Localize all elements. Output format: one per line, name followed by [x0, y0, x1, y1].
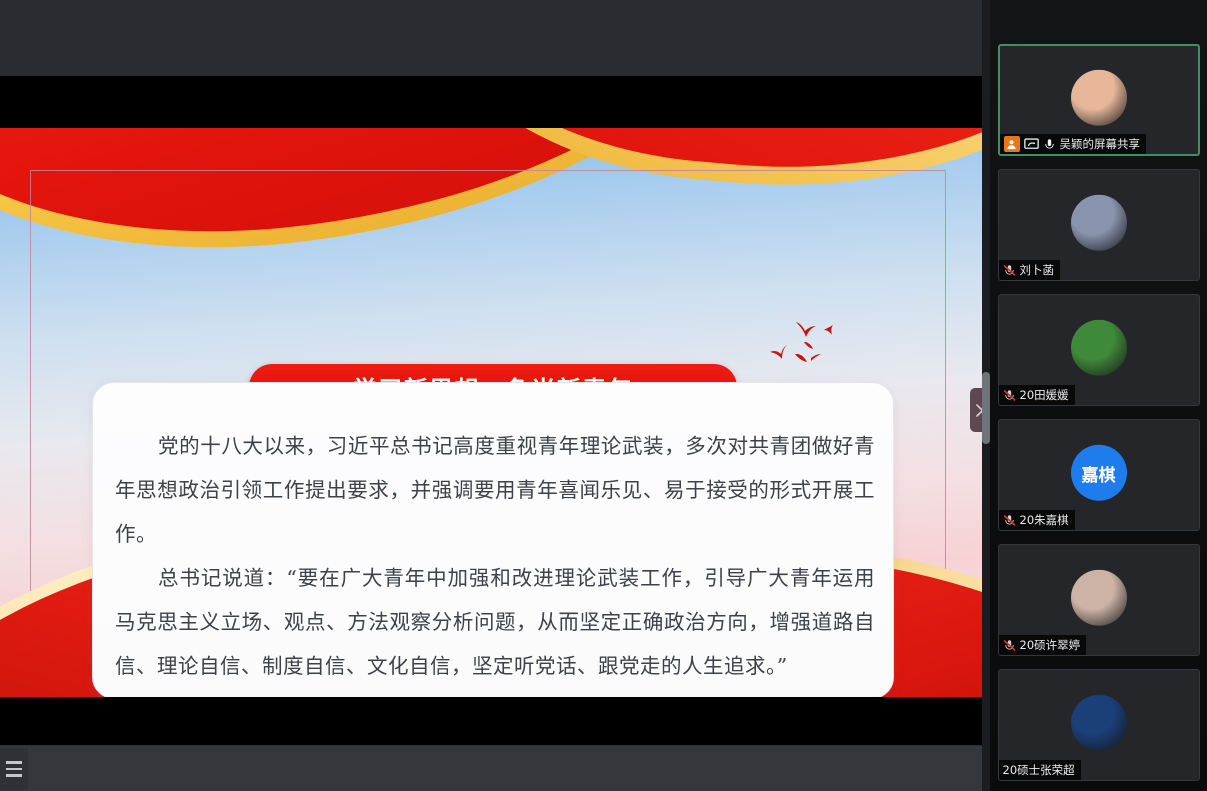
slide-body-text: 党的十八大以来，习近平总书记高度重视青年理论武装，多次对共青团做好青年思想政治引…	[115, 424, 875, 688]
participant-name: 20田媛媛	[1020, 387, 1069, 403]
avatar	[1071, 695, 1127, 751]
letterbox-bottom	[0, 697, 990, 745]
participant-tile[interactable]: 吴颖的屏幕共享	[998, 44, 1200, 156]
microphone-muted-icon[interactable]	[1003, 264, 1016, 277]
letterbox-top	[0, 76, 990, 128]
filmstrip-scrollbar-thumb[interactable]	[982, 372, 990, 444]
menu-bar-1	[6, 761, 22, 764]
avatar	[1071, 195, 1127, 251]
participant-label: 20硕许翠婷	[999, 635, 1087, 655]
flying-birds-icon	[762, 316, 872, 376]
participant-label: 20硕士张荣超	[999, 760, 1081, 780]
avatar	[1071, 320, 1127, 376]
participant-filmstrip: 吴颖的屏幕共享刘卜菡20田媛媛嘉棋20朱嘉棋20硕许翠婷20硕士张荣超	[990, 0, 1207, 791]
menu-bar-2	[6, 768, 22, 771]
microphone-on-icon[interactable]	[1043, 138, 1056, 151]
participant-tile[interactable]: 20硕士张荣超	[998, 669, 1200, 781]
participant-label: 刘卜菡	[999, 260, 1061, 280]
participant-label: 吴颖的屏幕共享	[1000, 134, 1147, 154]
participant-tile[interactable]: 20田媛媛	[998, 294, 1200, 406]
hamburger-menu-icon[interactable]	[0, 748, 28, 790]
presentation-slide: 学习新思想，争当新青年 党的十八大以来，习近平总书记高度重视青年理论武装，多次对…	[0, 128, 990, 697]
participant-name: 20硕许翠婷	[1020, 637, 1081, 653]
participant-name: 刘卜菡	[1020, 262, 1055, 278]
avatar	[1071, 70, 1127, 126]
shared-screen-stage: 学习新思想，争当新青年 党的十八大以来，习近平总书记高度重视青年理论武装，多次对…	[0, 0, 990, 791]
slide-paragraph-1: 党的十八大以来，习近平总书记高度重视青年理论武装，多次对共青团做好青年思想政治引…	[115, 424, 875, 556]
participant-label: 20田媛媛	[999, 385, 1075, 405]
avatar	[1071, 570, 1127, 626]
meeting-window: 学习新思想，争当新青年 党的十八大以来，习近平总书记高度重视青年理论武装，多次对…	[0, 0, 1207, 791]
participant-name: 吴颖的屏幕共享	[1060, 136, 1141, 152]
participant-tile[interactable]: 嘉棋20朱嘉棋	[998, 419, 1200, 531]
avatar: 嘉棋	[1071, 445, 1127, 501]
participant-name: 20硕士张荣超	[1003, 762, 1075, 778]
participant-tile[interactable]: 20硕许翠婷	[998, 544, 1200, 656]
slide-paragraph-2: 总书记说道：“要在广大青年中加强和改进理论武装工作，引导广大青年运用马克思主义立…	[115, 556, 875, 688]
microphone-muted-icon[interactable]	[1003, 389, 1016, 402]
screen-share-icon	[1024, 138, 1039, 151]
menu-bar-3	[6, 774, 22, 777]
participant-name: 20朱嘉棋	[1020, 512, 1069, 528]
participant-label: 20朱嘉棋	[999, 510, 1075, 530]
host-badge-icon	[1004, 136, 1020, 152]
microphone-muted-icon[interactable]	[1003, 639, 1016, 652]
stage-top-band	[0, 0, 990, 76]
participant-tile[interactable]: 刘卜菡	[998, 169, 1200, 281]
microphone-muted-icon[interactable]	[1003, 514, 1016, 527]
stage-bottom-toolbar	[0, 745, 990, 791]
